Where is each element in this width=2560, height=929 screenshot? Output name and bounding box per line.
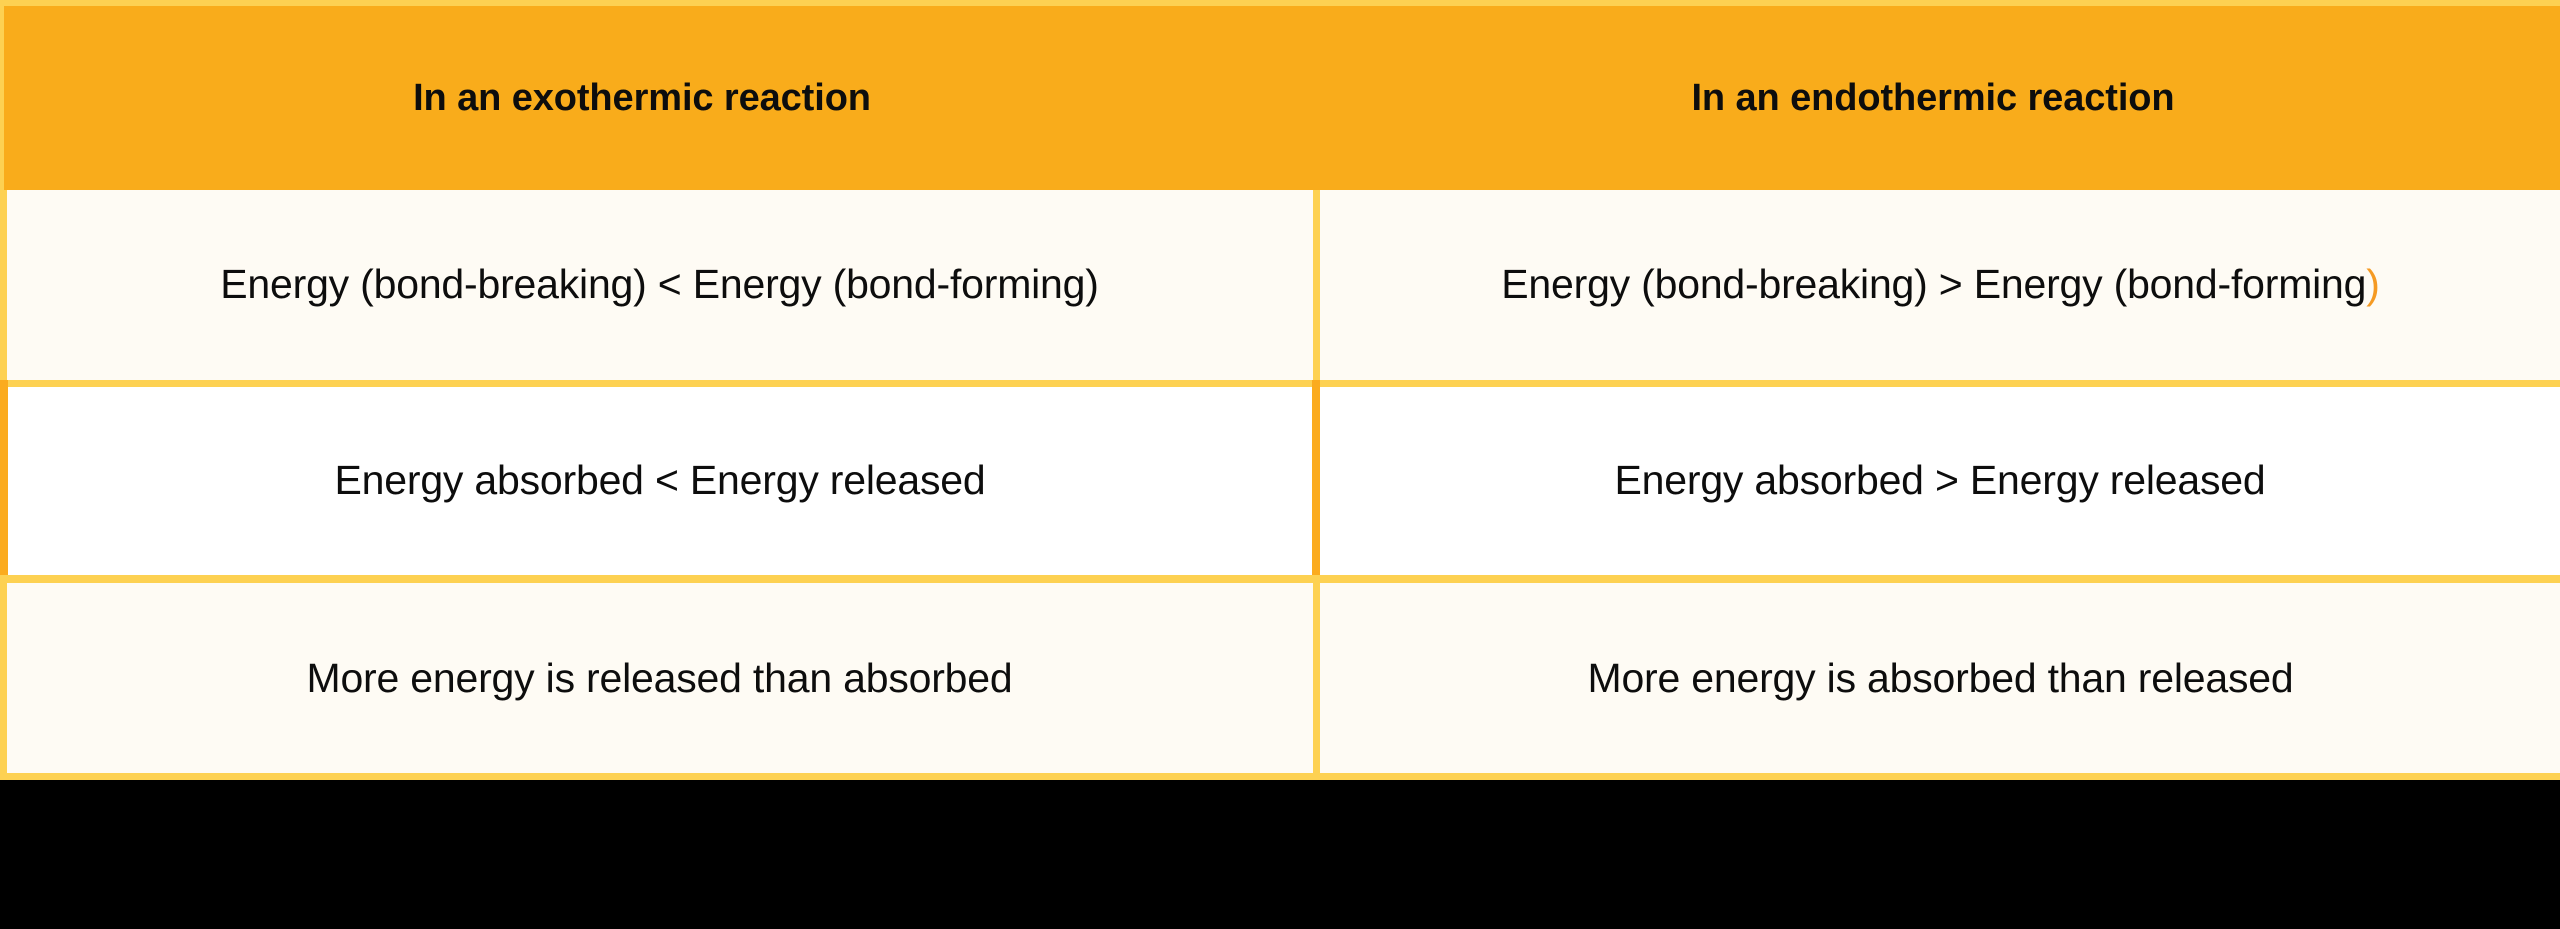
table-row: More energy is released than absorbed Mo… (4, 579, 2560, 773)
page-root: In an exothermic reaction In an endother… (0, 0, 2560, 929)
exothermic-endothermic-comparison-table: In an exothermic reaction In an endother… (0, 6, 2560, 773)
table-body: Energy (bond-breaking) < Energy (bond-fo… (4, 190, 2560, 773)
cell-endothermic-net-energy: More energy is absorbed than released (1316, 579, 2560, 773)
cell-exothermic-absorbed-released: Energy absorbed < Energy released (4, 383, 1316, 579)
cell-endothermic-bond-energy: Energy (bond-breaking) > Energy (bond-fo… (1316, 190, 2560, 383)
cell-text-main: Energy (bond-breaking) > Energy (bond-fo… (1501, 261, 2366, 307)
table-header: In an exothermic reaction In an endother… (4, 6, 2560, 190)
cell-exothermic-net-energy: More energy is released than absorbed (4, 579, 1316, 773)
column-header-endothermic: In an endothermic reaction (1316, 6, 2560, 190)
cell-exothermic-bond-energy: Energy (bond-breaking) < Energy (bond-fo… (4, 190, 1316, 383)
table-row: Energy (bond-breaking) < Energy (bond-fo… (4, 190, 2560, 383)
accent-closing-parenthesis: ) (2366, 261, 2379, 307)
comparison-table-container: In an exothermic reaction In an endother… (0, 0, 2560, 780)
cell-endothermic-absorbed-released: Energy absorbed > Energy released (1316, 383, 2560, 579)
table-row: Energy absorbed < Energy released Energy… (4, 383, 2560, 579)
header-row: In an exothermic reaction In an endother… (4, 6, 2560, 190)
column-header-exothermic: In an exothermic reaction (4, 6, 1316, 190)
bottom-black-area (0, 780, 2560, 929)
